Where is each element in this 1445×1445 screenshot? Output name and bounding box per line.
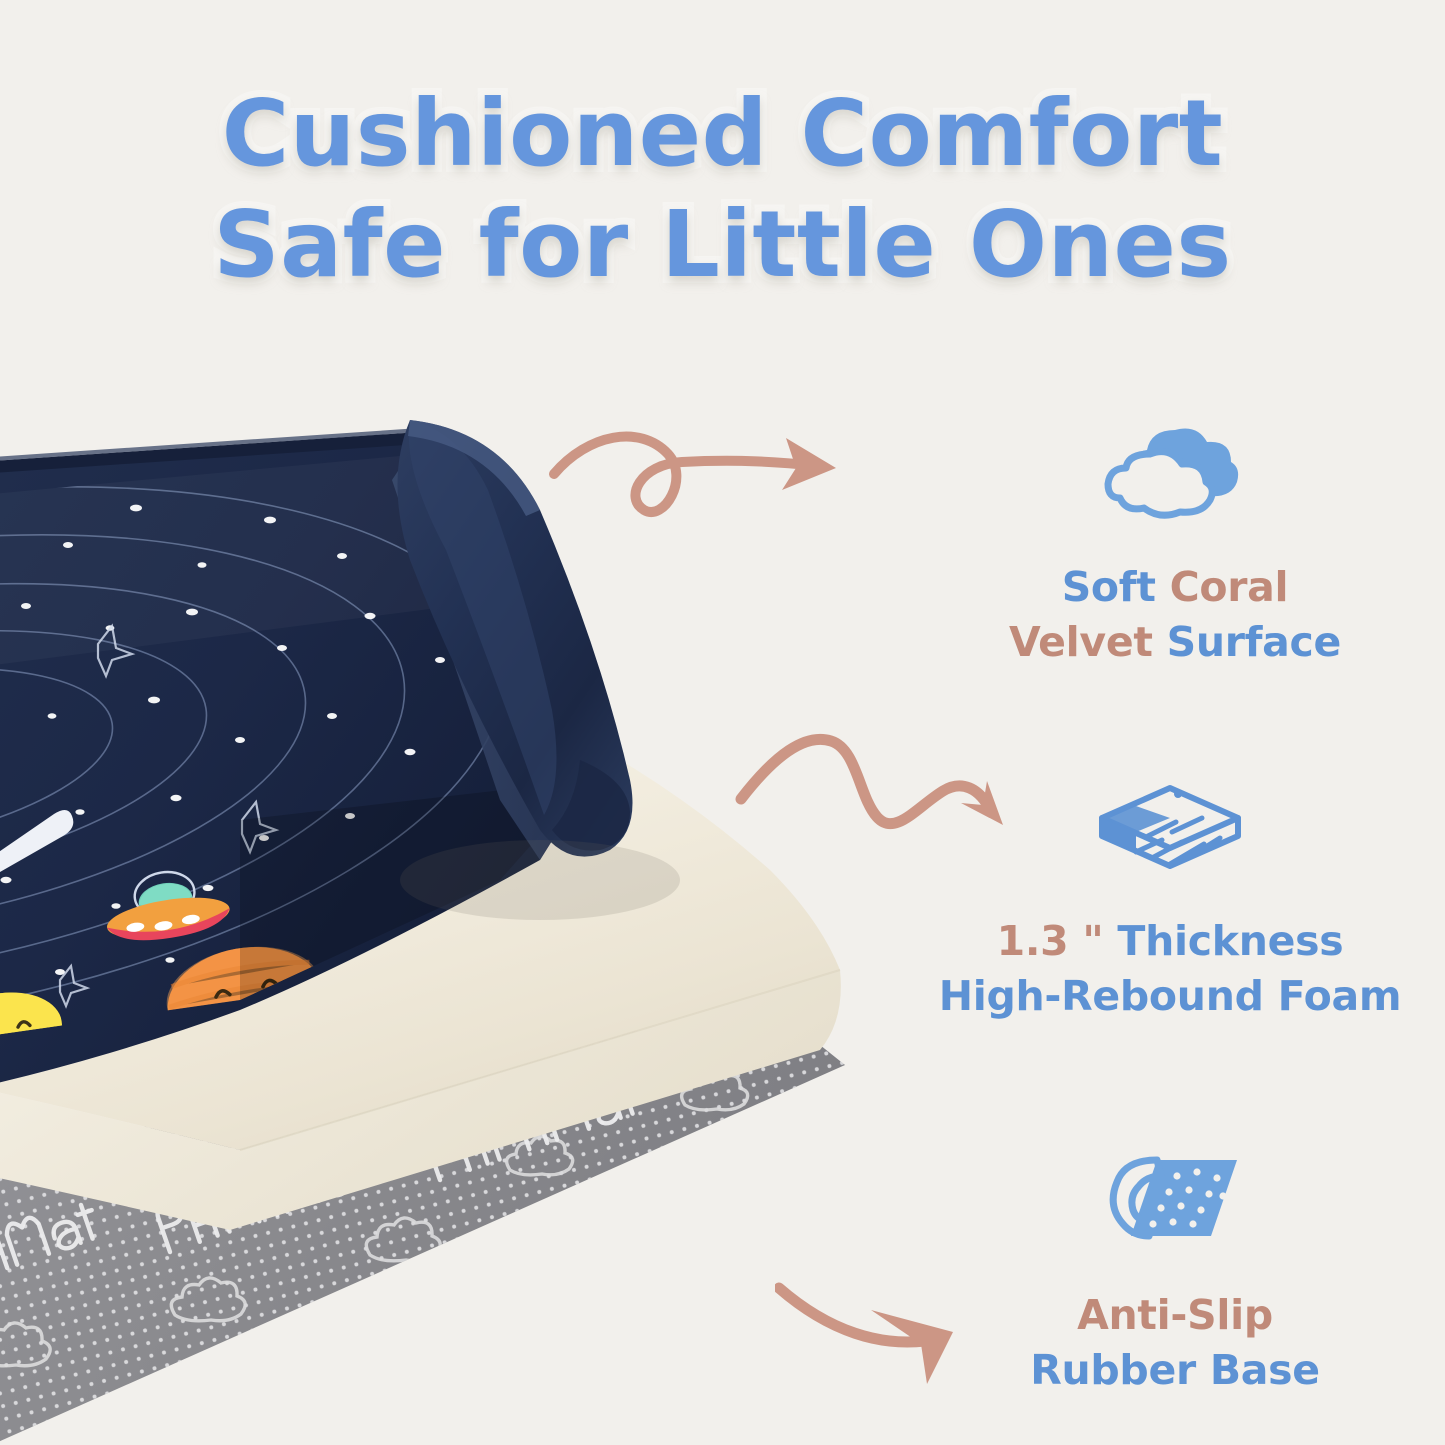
feature-2-line-1: 1.3 " Thickness <box>910 914 1430 969</box>
cloud-icon <box>1095 424 1255 534</box>
feature-1-text: Soft Coral Velvet Surface <box>940 560 1410 670</box>
feature-2-text: 1.3 " Thickness High-Rebound Foam <box>910 914 1430 1024</box>
feature-1-line-2: Velvet Surface <box>940 615 1410 670</box>
feature-1-line-1: Soft Coral <box>940 560 1410 615</box>
headline: Cushioned Comfort Safe for Little Ones <box>0 86 1445 293</box>
anti-slip-mat-icon <box>1095 1152 1255 1262</box>
arrow-loop-right-icon <box>548 418 868 553</box>
arrow-curve-up-right-icon <box>775 1262 1030 1402</box>
feature-soft-coral-velvet-surface: Soft Coral Velvet Surface <box>940 424 1410 670</box>
infographic-canvas: RY VENUS JUP URANI <box>0 0 1445 1445</box>
headline-line-1: Cushioned Comfort <box>0 86 1445 183</box>
arrow-wavy-down-right-icon <box>735 725 1045 865</box>
headline-line-2: Safe for Little Ones <box>0 197 1445 294</box>
feature-2-line-2: High-Rebound Foam <box>910 969 1430 1024</box>
foam-layers-icon <box>1090 778 1250 888</box>
